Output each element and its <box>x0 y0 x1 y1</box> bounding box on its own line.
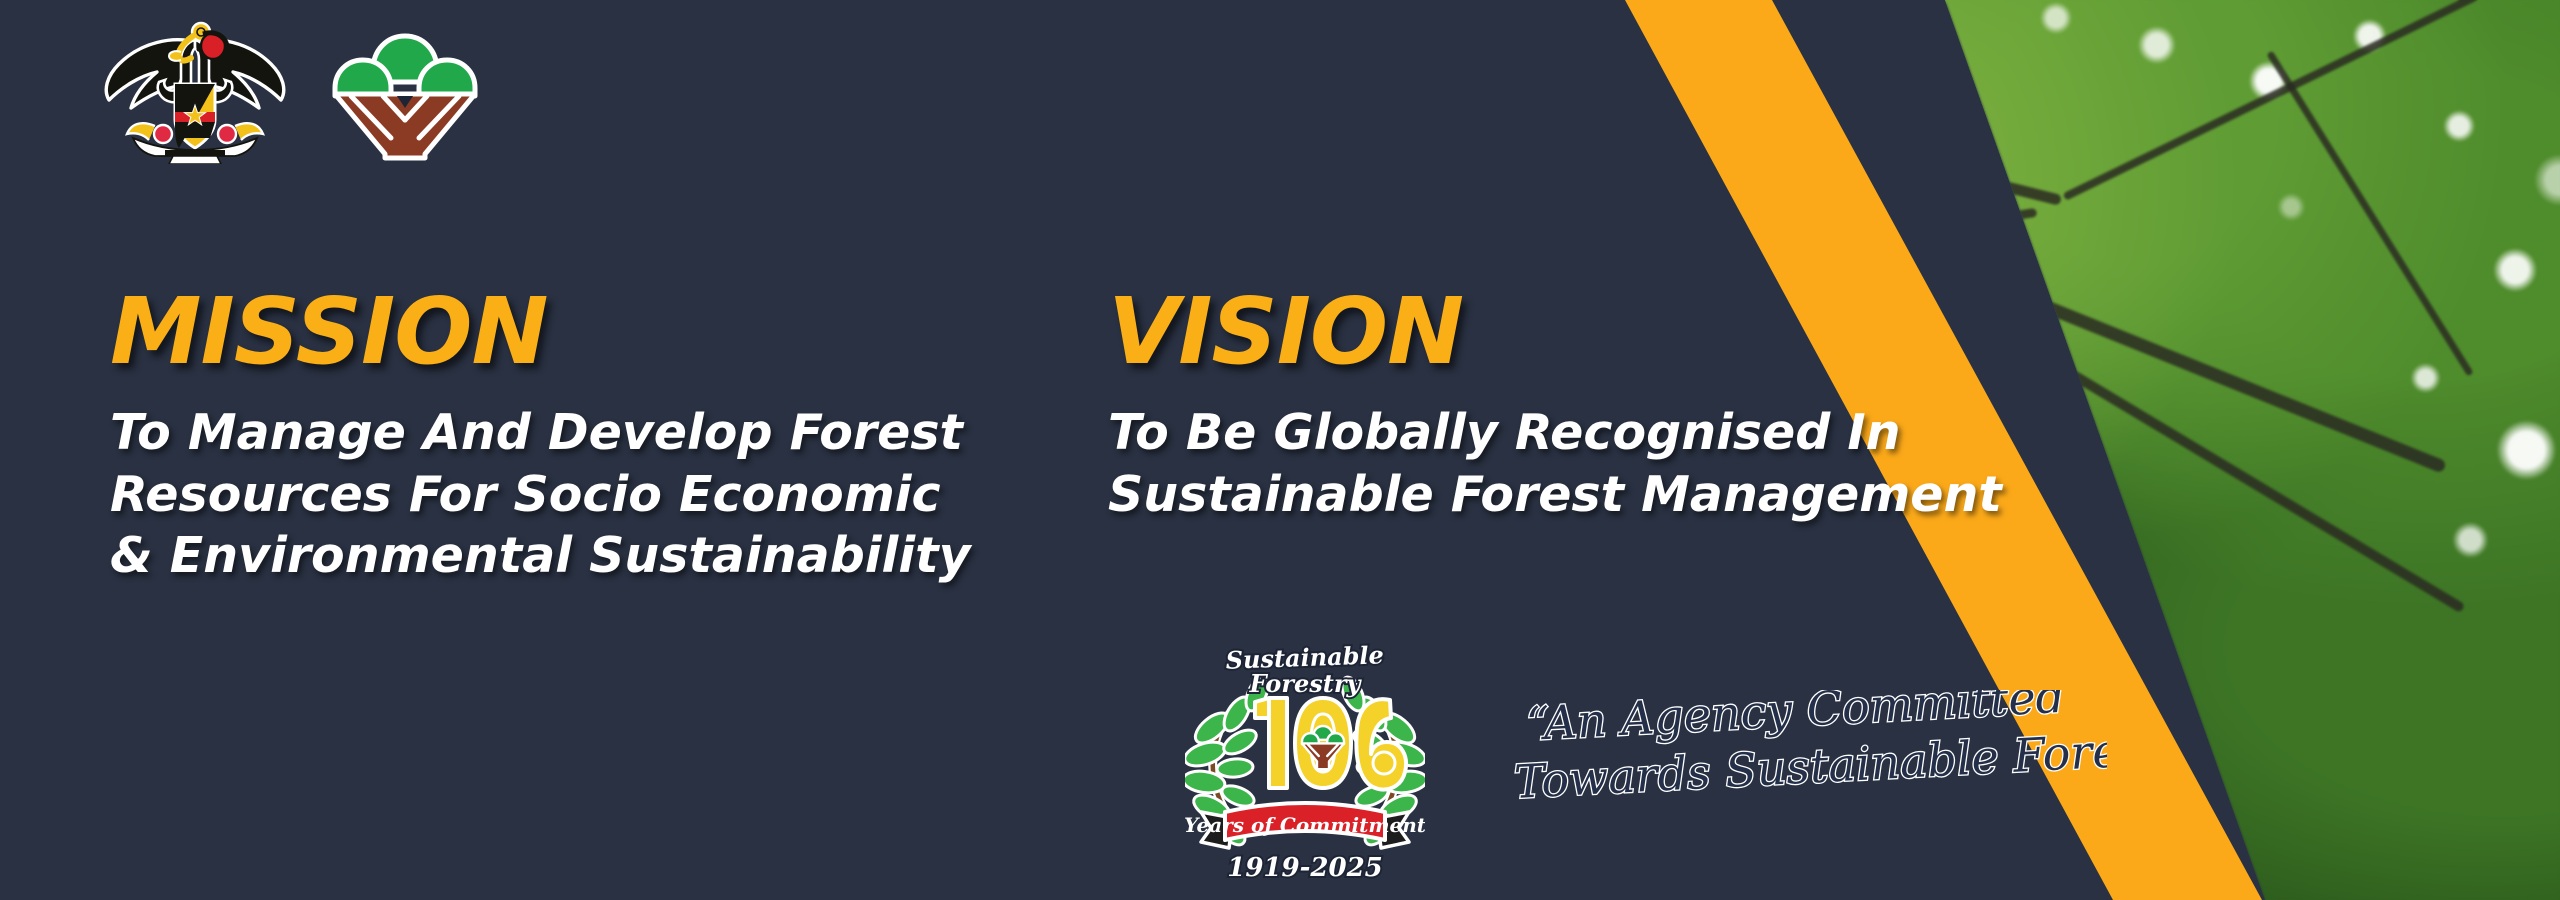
vision-line-2: Sustainable Forest Management <box>1108 464 2002 526</box>
agency-tagline: “An Agency Committed Towards Sustainable… <box>1487 690 2107 820</box>
anniversary-ribbon-text: Years of Commitment <box>1185 813 1425 837</box>
mission-line-2: Resources For Socio Economic <box>110 464 971 526</box>
anniversary-106-logo: Sustainable Forestry <box>1185 636 1425 882</box>
mission-line-3: & Environmental Sustainability <box>110 525 971 587</box>
vision-column: VISION To Be Globally Recognised In Sust… <box>1108 286 2002 525</box>
sarawak-coat-of-arms-logo <box>95 16 295 164</box>
vision-line-1: To Be Globally Recognised In <box>1108 402 2002 464</box>
vision-heading-wrap: VISION <box>1108 286 2002 378</box>
vision-heading: VISION <box>1108 286 2002 378</box>
mission-heading-wrap: MISSION <box>110 286 971 378</box>
mission-vision-banner: MISSION To Manage And Develop Forest Res… <box>0 0 2560 900</box>
anniversary-script-line2: Forestry <box>1249 669 1363 698</box>
forest-department-tree-logo <box>325 30 485 162</box>
mission-line-1: To Manage And Develop Forest <box>110 402 971 464</box>
anniversary-years: 1919-2025 <box>1227 853 1383 882</box>
mission-heading: MISSION <box>110 286 971 378</box>
mission-column: MISSION To Manage And Develop Forest Res… <box>110 286 971 587</box>
